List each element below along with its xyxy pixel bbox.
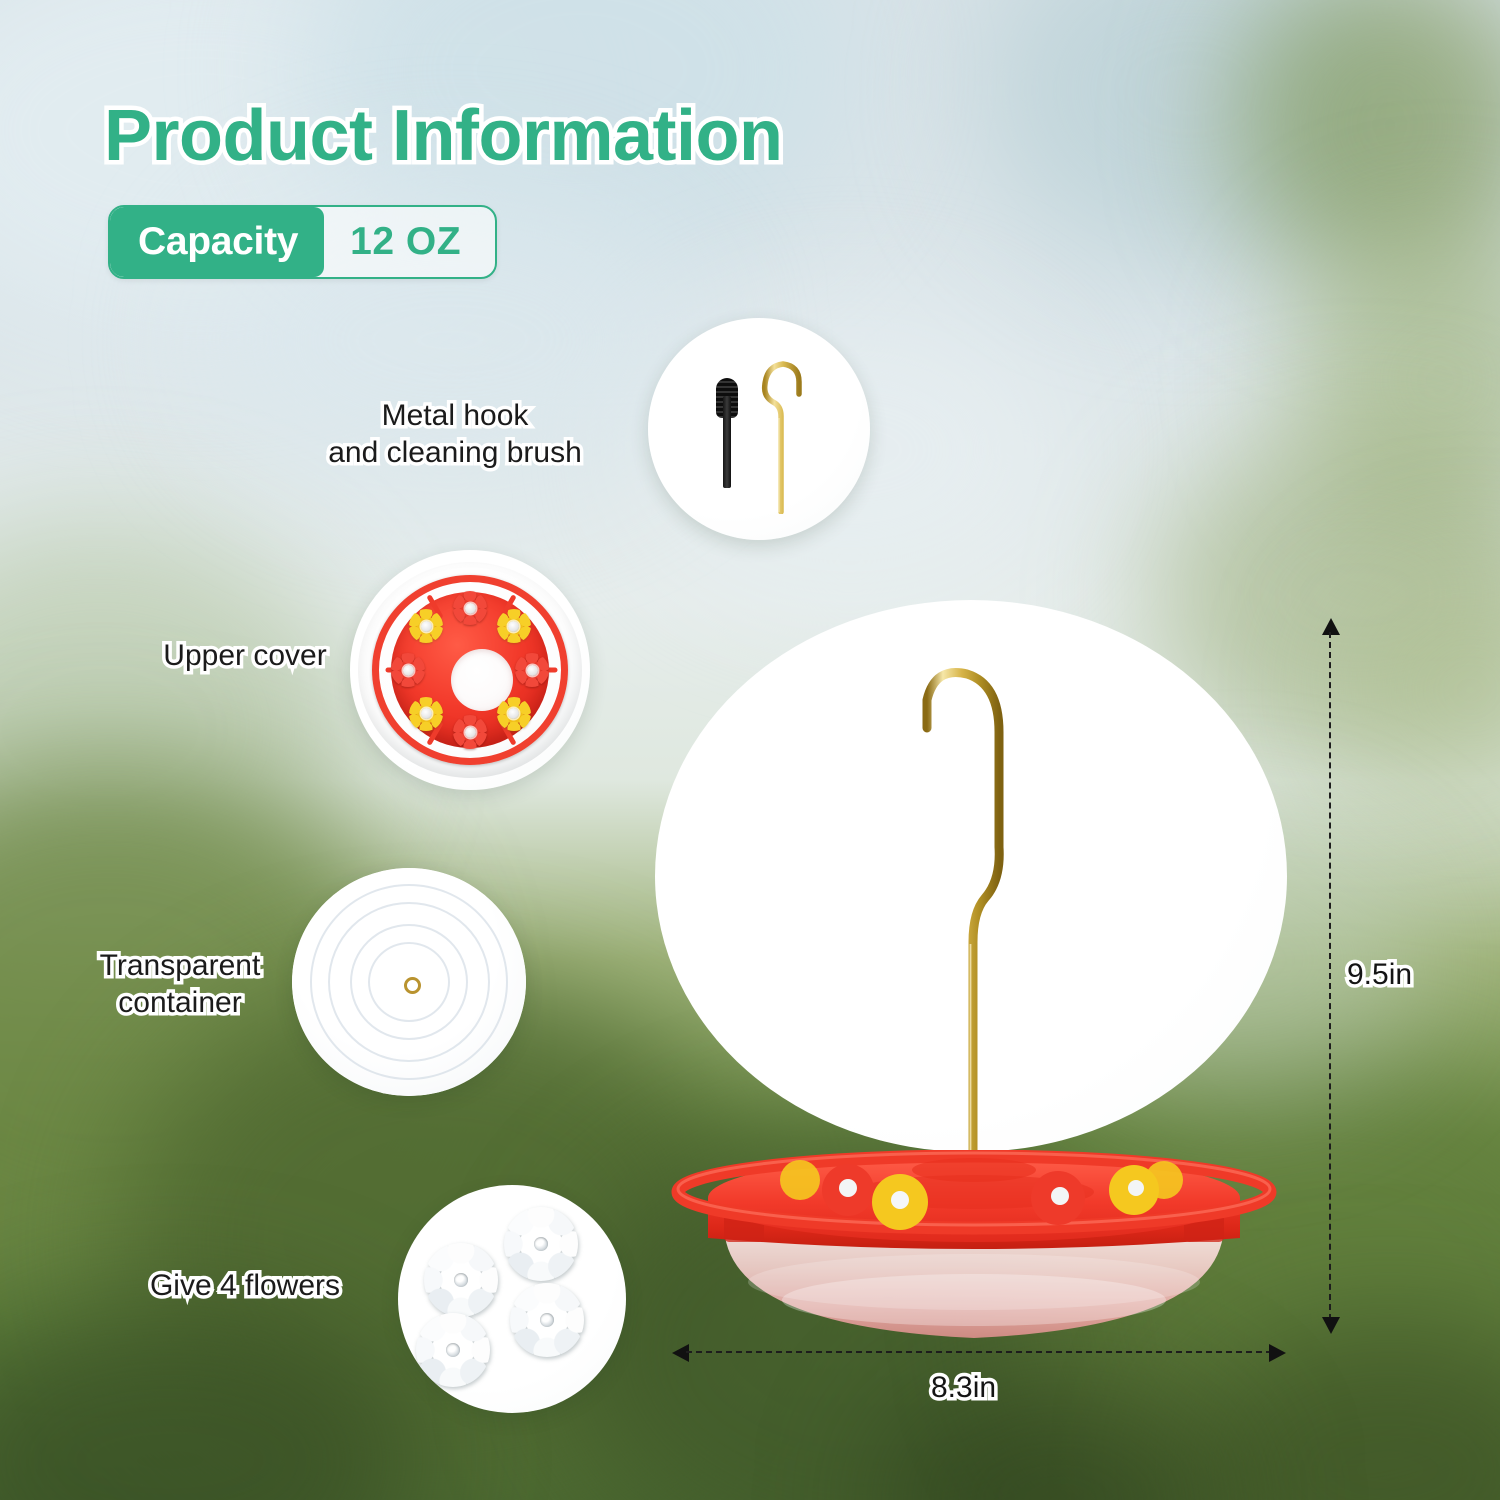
arrow-head-left-icon bbox=[672, 1344, 689, 1362]
capacity-badge-key: Capacity bbox=[110, 207, 324, 277]
part-photo-metal-hook-and-brush bbox=[648, 318, 870, 540]
dimension-line-vertical bbox=[1329, 632, 1331, 1320]
container-center-hole bbox=[404, 977, 421, 994]
hero-feeder-assembly bbox=[668, 1150, 1280, 1350]
callout-label-transparent-container: Transparent container bbox=[55, 948, 305, 1021]
arrow-head-up-icon bbox=[1322, 618, 1340, 635]
spare-flower-core bbox=[534, 1237, 548, 1251]
flower-core bbox=[527, 665, 538, 676]
spare-flower bbox=[424, 1243, 498, 1317]
spare-flower bbox=[510, 1283, 584, 1357]
upper-cover-flower-port bbox=[391, 653, 425, 687]
cleaning-brush-handle bbox=[723, 396, 731, 488]
upper-cover-flower-port bbox=[453, 715, 487, 749]
flower-core bbox=[403, 665, 414, 676]
dimension-label-height: 9.5in bbox=[1347, 958, 1412, 992]
spare-flower-core bbox=[454, 1273, 468, 1287]
flower-core bbox=[421, 621, 432, 632]
flower-core bbox=[465, 603, 476, 614]
spare-flower-core bbox=[446, 1343, 460, 1357]
arrow-head-down-icon bbox=[1322, 1317, 1340, 1334]
upper-cover-flower-port bbox=[515, 653, 549, 687]
spare-flower bbox=[504, 1207, 578, 1281]
product-information-infographic: Product Information Capacity 12 OZ Metal… bbox=[0, 0, 1500, 1500]
upper-cover-flower-port bbox=[497, 697, 531, 731]
part-photo-spare-flowers bbox=[398, 1185, 626, 1413]
capacity-badge-value: 12 OZ bbox=[324, 207, 495, 277]
dimension-arrow-vertical bbox=[1322, 618, 1338, 1334]
metal-hook-icon bbox=[753, 344, 809, 514]
dimension-arrow-horizontal bbox=[672, 1344, 1286, 1360]
arrow-head-right-icon bbox=[1269, 1344, 1286, 1362]
callout-label-metal-hook: Metal hook and cleaning brush bbox=[310, 398, 600, 471]
part-photo-transparent-container bbox=[292, 868, 526, 1096]
flower-core bbox=[465, 727, 476, 738]
capacity-badge: Capacity 12 OZ bbox=[108, 205, 497, 279]
callout-label-give-flowers: Give 4 flowers bbox=[120, 1268, 370, 1305]
spare-flower bbox=[416, 1313, 490, 1387]
hero-metal-hook bbox=[905, 612, 1035, 1172]
spare-flower-core bbox=[540, 1313, 554, 1327]
page-title: Product Information bbox=[104, 95, 782, 177]
upper-cover-flower-port bbox=[409, 697, 443, 731]
callout-label-upper-cover: Upper cover bbox=[120, 638, 370, 675]
part-photo-upper-cover bbox=[350, 550, 590, 790]
upper-cover-flower-port bbox=[497, 609, 531, 643]
dimension-label-width: 8.3in bbox=[931, 1371, 996, 1405]
upper-cover-flower-port bbox=[453, 591, 487, 625]
dimension-line-horizontal bbox=[686, 1351, 1272, 1353]
flower-core bbox=[508, 621, 519, 632]
flower-core bbox=[421, 708, 432, 719]
